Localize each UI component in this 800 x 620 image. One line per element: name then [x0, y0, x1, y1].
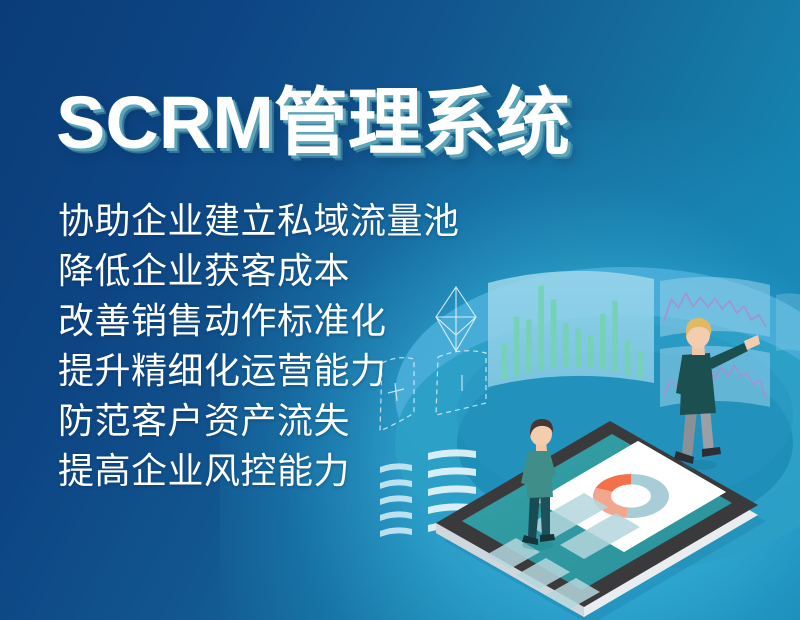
panel-edge-right — [776, 293, 800, 355]
bullet-item-5: 防范客户资产流失 — [58, 396, 488, 446]
bullet-item-1: 协助企业建立私域流量池 — [58, 196, 488, 246]
panel-line-chart-lower — [660, 346, 770, 407]
bullet-item-2: 降低企业获客成本 — [58, 246, 488, 296]
panel-bar-chart — [488, 271, 654, 387]
bullet-item-3: 改善销售动作标准化 — [58, 296, 488, 346]
page-title: SCRM管理系统 — [56, 86, 570, 160]
bullet-item-6: 提高企业风控能力 — [58, 446, 488, 496]
poster-canvas: SCRM管理系统 协助企业建立私域流量池 降低企业获客成本 改善销售动作标准化 … — [0, 0, 800, 620]
panel-line-chart-upper — [660, 277, 770, 337]
bullet-item-4: 提升精细化运营能力 — [58, 346, 488, 396]
feature-bullet-list: 协助企业建立私域流量池 降低企业获客成本 改善销售动作标准化 提升精细化运营能力… — [58, 196, 488, 496]
phone-donut-chart — [593, 474, 669, 518]
